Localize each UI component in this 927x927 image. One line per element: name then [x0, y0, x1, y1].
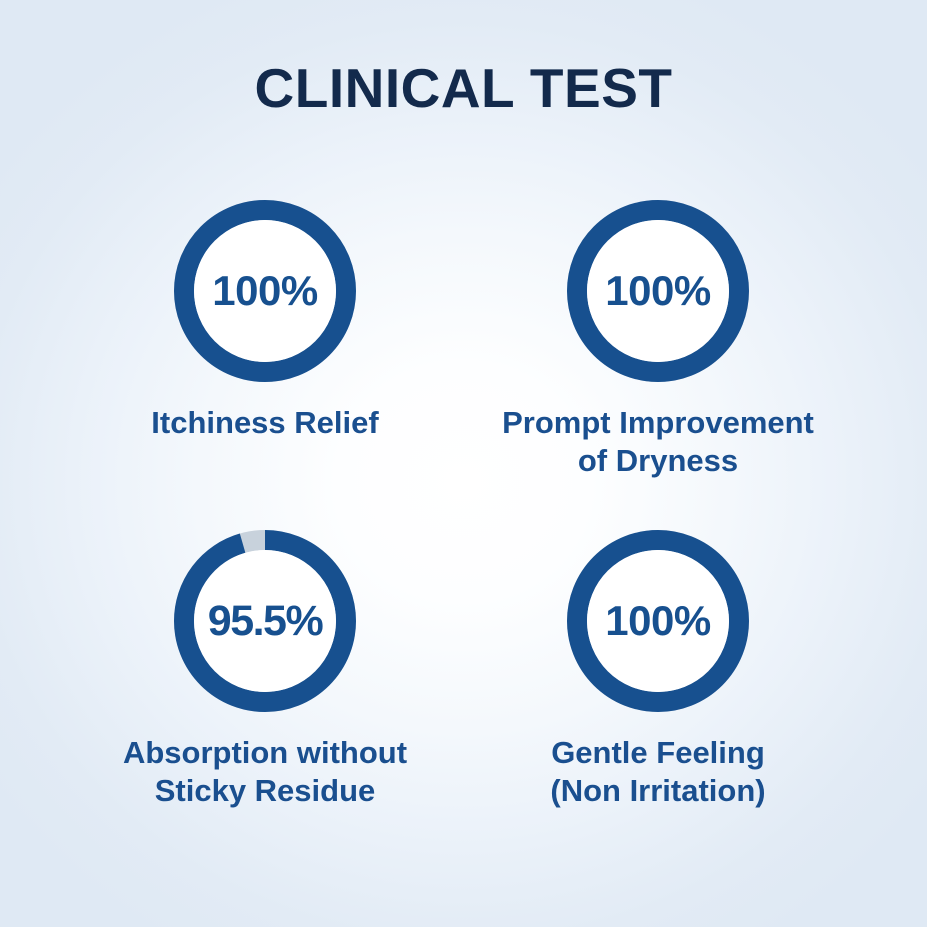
stat-card-prompt-improvement-of-dryness: 100% Prompt Improvement of Dryness — [458, 200, 858, 481]
donut-gauge-prompt-improvement-of-dryness: 100% — [567, 200, 749, 382]
donut-gauge-gentle-feeling-non-irritation: 100% — [567, 530, 749, 712]
stat-label-gentle-feeling-non-irritation: Gentle Feeling (Non Irritation) — [458, 734, 858, 811]
stat-label-prompt-improvement-of-dryness: Prompt Improvement of Dryness — [458, 404, 858, 481]
gauge-value-prompt-improvement-of-dryness: 100% — [567, 200, 749, 382]
donut-gauge-absorption-without-sticky-residue: 95.5% — [174, 530, 356, 712]
stat-card-itchiness-relief: 100% Itchiness Relief — [65, 200, 465, 442]
clinical-test-infographic: CLINICAL TEST 100% Itchiness Relief 100%… — [0, 0, 927, 927]
gauge-value-absorption-without-sticky-residue: 95.5% — [174, 530, 356, 712]
gauge-value-gentle-feeling-non-irritation: 100% — [567, 530, 749, 712]
page-title: CLINICAL TEST — [0, 58, 927, 119]
gauge-value-itchiness-relief: 100% — [174, 200, 356, 382]
stat-label-absorption-without-sticky-residue: Absorption without Sticky Residue — [65, 734, 465, 811]
stat-label-itchiness-relief: Itchiness Relief — [65, 404, 465, 442]
donut-gauge-itchiness-relief: 100% — [174, 200, 356, 382]
stat-card-gentle-feeling-non-irritation: 100% Gentle Feeling (Non Irritation) — [458, 530, 858, 811]
stat-card-absorption-without-sticky-residue: 95.5% Absorption without Sticky Residue — [65, 530, 465, 811]
